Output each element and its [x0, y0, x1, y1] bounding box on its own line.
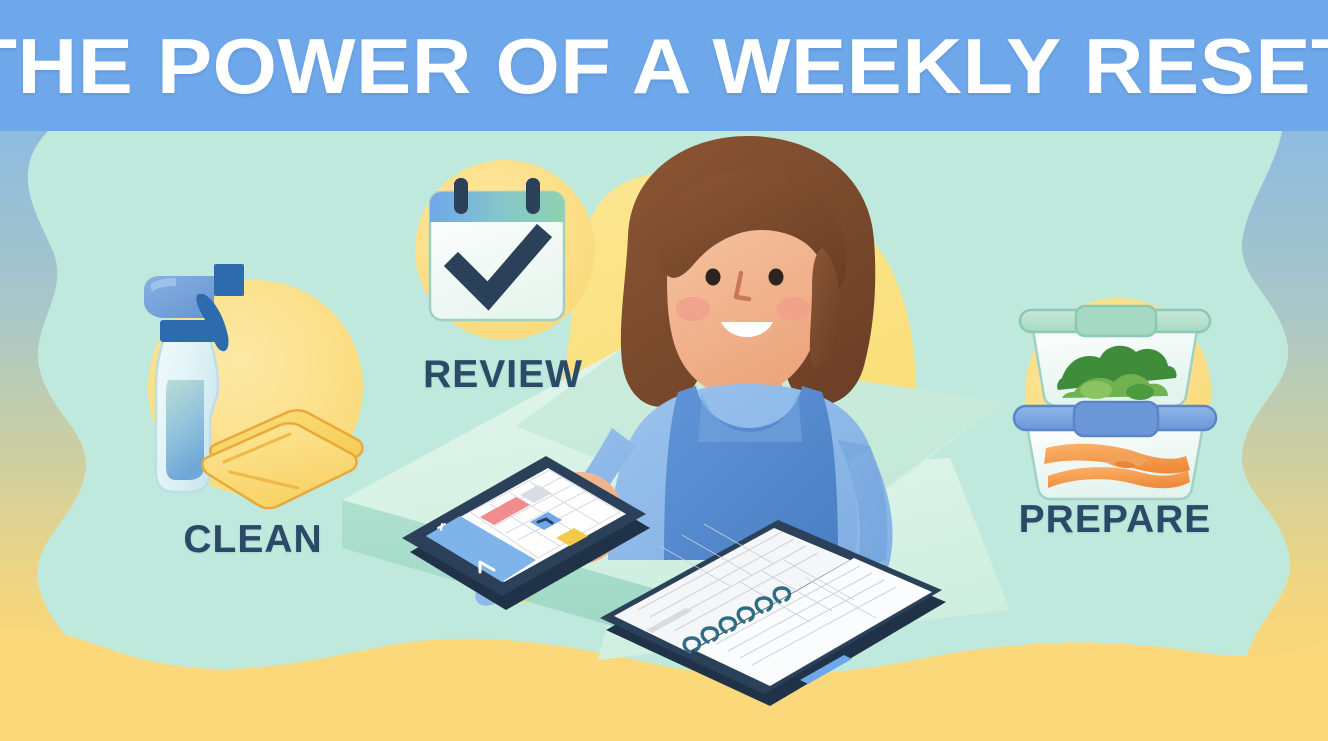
icon-group-review[interactable]: REVIEW — [398, 150, 608, 410]
title-banner: THE POWER OF A WEEKLY RESET — [0, 0, 1328, 131]
icon-group-prepare[interactable]: PREPARE — [990, 280, 1240, 560]
icon-label-clean: CLEAN — [183, 518, 322, 562]
icon-group-clean[interactable]: CLEAN — [118, 260, 388, 590]
eye-left — [706, 269, 721, 286]
poster-canvas: CLEAN — [0, 0, 1328, 741]
container-top-broccoli — [1020, 306, 1210, 406]
cheek-right — [777, 297, 811, 321]
lid-bottom-clip — [1074, 402, 1158, 436]
eye-right — [769, 269, 784, 286]
lid-top-clip — [1076, 306, 1156, 336]
cheek-left — [676, 297, 710, 321]
page-title: THE POWER OF A WEEKLY RESET — [0, 27, 1328, 105]
container-bottom-carrots — [1014, 402, 1216, 499]
icon-label-prepare: PREPARE — [1019, 498, 1212, 542]
icon-label-review: REVIEW — [423, 353, 583, 397]
